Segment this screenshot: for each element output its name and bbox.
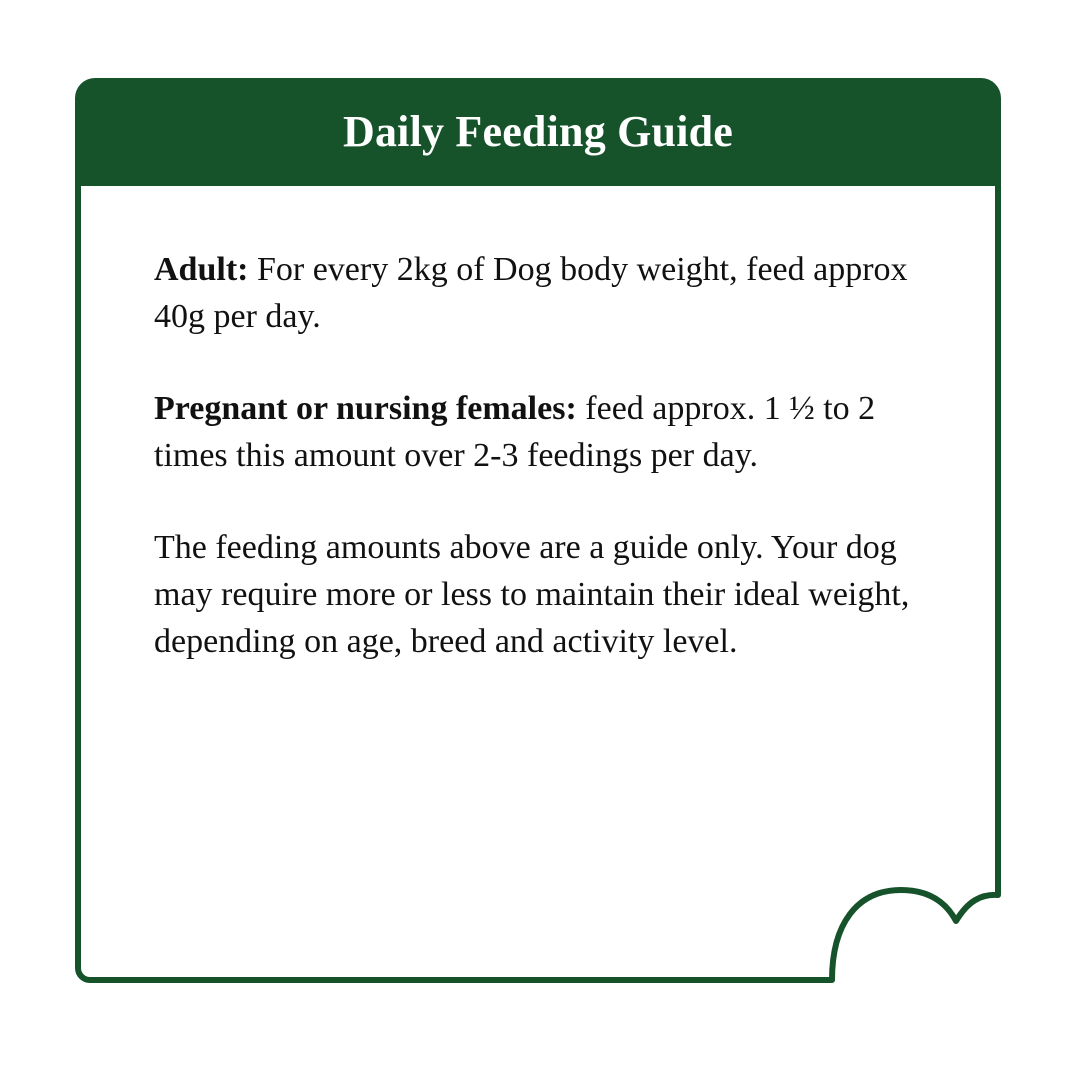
paragraph-adult: Adult: For every 2kg of Dog body weight,…	[154, 246, 924, 340]
paragraph-pregnant-nursing: Pregnant or nursing females: feed approx…	[154, 385, 924, 479]
paragraph-disclaimer-text: The feeding amounts above are a guide on…	[154, 529, 909, 660]
paragraph-pregnant-nursing-lead: Pregnant or nursing females:	[154, 390, 577, 427]
daily-feeding-guide-card: Daily Feeding Guide Adult: For every 2kg…	[75, 78, 1001, 999]
header-band-fill	[75, 78, 1001, 186]
paragraph-disclaimer: The feeding amounts above are a guide on…	[154, 524, 924, 665]
card-body: Adult: For every 2kg of Dog body weight,…	[154, 246, 924, 665]
paragraph-adult-text: For every 2kg of Dog body weight, feed a…	[154, 251, 908, 335]
feeding-guide-screen: Daily Feeding Guide Adult: For every 2kg…	[0, 0, 1080, 1080]
paragraph-adult-lead: Adult:	[154, 251, 248, 288]
